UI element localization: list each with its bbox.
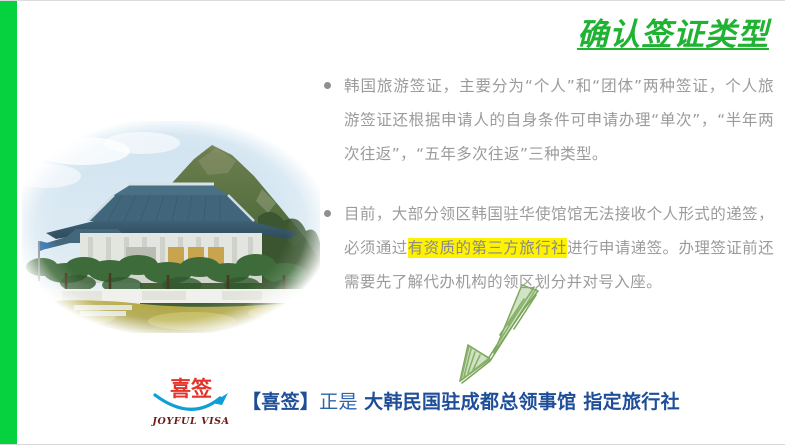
list-item: 目前，大部分领区韩国驻华使馆馆无法接收个人形式的递签，必须通过有资质的第三方旅行… [322, 197, 774, 299]
bullet-dot-icon [324, 82, 331, 89]
joyful-visa-logo: 喜签 JOYFUL VISA [150, 374, 232, 426]
list-item: 韩国旅游签证，主要分为“个人”和“团体”两种签证，个人旅游签证还根据申请人的自身… [322, 69, 774, 171]
footer: 喜签 JOYFUL VISA 【喜签】正是 大韩民国驻成都总领事馆 指定旅行社 [150, 374, 680, 426]
footer-connector: 正是 [319, 391, 358, 413]
footer-main-text: 大韩民国驻成都总领事馆 指定旅行社 [364, 391, 680, 413]
bullet-text: 韩国旅游签证，主要分为“个人”和“团体”两种签证，个人旅游签证还根据申请人的自身… [344, 77, 774, 163]
presentation-slide: 确认签证类型 [0, 0, 785, 445]
footer-tagline: 【喜签】正是 大韩民国驻成都总领事馆 指定旅行社 [242, 387, 680, 414]
bullet-dot-icon [324, 210, 331, 217]
left-accent-bar [0, 1, 17, 445]
page-title: 确认签证类型 [577, 9, 769, 54]
photo-image [22, 121, 320, 333]
blue-house-illustration [22, 121, 320, 333]
bullet-list: 韩国旅游签证，主要分为“个人”和“团体”两种签证，个人旅游签证还根据申请人的自身… [322, 69, 774, 325]
logo-english-text: JOYFUL VISA [152, 416, 229, 427]
swoosh-icon [150, 392, 232, 416]
highlighted-text: 有资质的第三方旅行社 [408, 238, 567, 258]
footer-brand: 【喜签】 [242, 391, 319, 413]
photo-blue-house [22, 121, 320, 333]
